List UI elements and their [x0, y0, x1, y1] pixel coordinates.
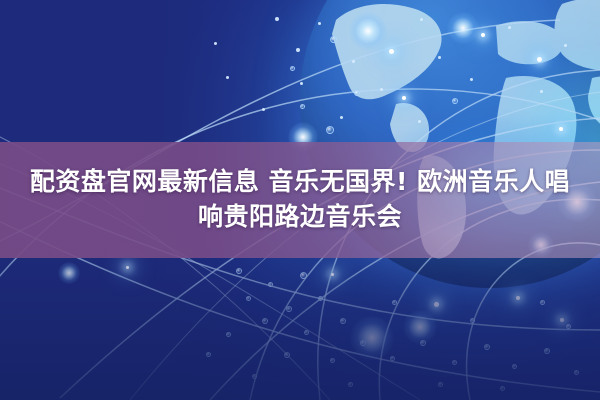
particle-bubble: [452, 98, 458, 104]
title-line-2: 响贵阳路边音乐会: [198, 203, 402, 232]
node-flare: [537, 57, 542, 62]
title-line-1: 配资盘官网最新信息 音乐无国界! 欧洲音乐人唱: [30, 168, 570, 197]
node-flare-large: [447, 12, 479, 44]
particle-bubble: [290, 66, 295, 71]
particle-dot: [318, 22, 321, 25]
particle-dot: [352, 60, 355, 63]
particle-bubble: [326, 126, 334, 134]
node-flare: [481, 33, 485, 37]
particle-dot: [420, 18, 423, 21]
particle-dot: [262, 108, 265, 111]
particle-dot: [296, 48, 300, 52]
particle-bubble: [354, 90, 360, 96]
particle-dot: [214, 42, 217, 45]
particle-bubble: [300, 104, 305, 109]
particle-bubble: [330, 36, 337, 43]
particle-dot: [275, 17, 279, 21]
node-flare: [559, 127, 563, 131]
title-overlay-band: 配资盘官网最新信息 音乐无国界! 欧洲音乐人唱 响贵阳路边音乐会: [0, 142, 600, 258]
node-flare: [402, 96, 406, 100]
particle-dot: [226, 76, 229, 79]
node-flare-large: [349, 12, 387, 50]
particle-dot: [418, 120, 421, 123]
particle-dot: [470, 78, 473, 81]
article-banner: 配资盘官网最新信息 音乐无国界! 欧洲音乐人唱 响贵阳路边音乐会: [0, 0, 600, 400]
particle-dot: [300, 82, 303, 85]
particle-dot: [508, 26, 511, 29]
particle-dot: [340, 116, 343, 119]
particle-dot: [564, 44, 567, 47]
particle-dot: [380, 88, 383, 91]
particle-dot: [438, 56, 441, 59]
particle-dot: [540, 90, 543, 93]
node-flare: [389, 49, 394, 54]
